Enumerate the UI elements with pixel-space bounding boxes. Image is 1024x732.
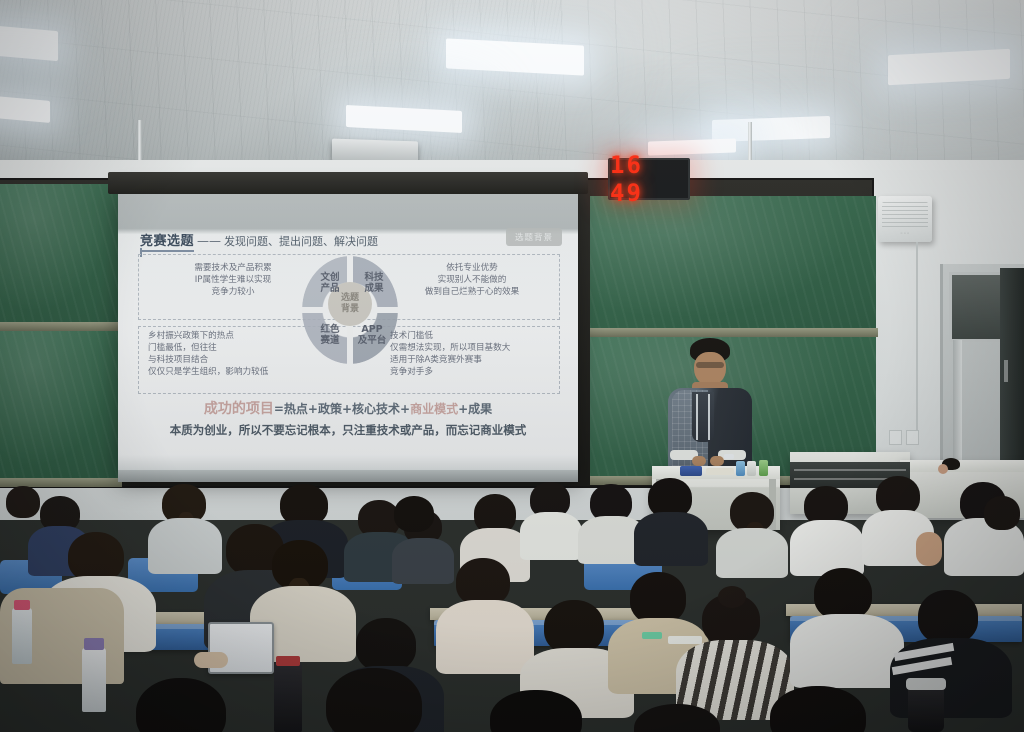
donut-diagram: 选题 背景 文创 产品 科技 成果 红色 赛道 APP 及平台 xyxy=(302,250,398,370)
bottle-cap xyxy=(14,600,30,610)
student xyxy=(0,472,52,532)
speaker-logo: ◦◦◦ xyxy=(900,231,910,237)
q-tr-line2: 成果 xyxy=(352,283,396,294)
block-br-line1: 技术门槛低 xyxy=(390,330,552,342)
bottle-cap xyxy=(84,638,104,650)
summary-mid: =热点+政策+ xyxy=(274,402,352,416)
student xyxy=(790,568,902,680)
student-front-row xyxy=(112,678,262,732)
slide-summary-formula: 成功的项目=热点+政策+核心技术+商业模式+成果 xyxy=(118,398,578,418)
slide-block-top-right: 依托专业优势 实现别人不能做的 做到自己烂熟于心的效果 xyxy=(394,262,550,298)
chalk-rail xyxy=(590,328,878,337)
slide-section-badge: 选题背景 xyxy=(506,228,562,246)
student xyxy=(520,482,580,552)
block-tl-line2: IP属性学生难以实现 xyxy=(158,274,308,286)
student-front-row xyxy=(470,690,610,732)
ceiling-panel-light xyxy=(888,49,1010,85)
summary-tech: 核心技术 xyxy=(352,402,400,416)
student-raised-hand xyxy=(908,532,958,602)
thermos-bottle xyxy=(82,648,106,712)
thermos-bottle xyxy=(908,684,944,732)
block-br-line2: 仅需想法实现，所以项目基数大 xyxy=(390,342,552,354)
student xyxy=(790,486,862,570)
wall-speaker: ◦◦◦ xyxy=(878,196,932,242)
student xyxy=(716,492,786,570)
side-desk-surface xyxy=(900,460,1024,472)
donut-quadrant-top-left: 文创 产品 xyxy=(308,272,352,294)
donut-quadrant-bottom-right: APP 及平台 xyxy=(350,324,394,346)
student-front-row xyxy=(752,686,902,732)
student-front-row xyxy=(306,668,456,732)
block-bl-line4: 仅仅只是学生组织，影响力较低 xyxy=(148,366,304,378)
student-audience xyxy=(0,472,1024,732)
slide-summary-note: 本质为创业，所以不要忘记根本，只注重技术或产品，而忘记商业模式 xyxy=(118,422,578,438)
student xyxy=(436,558,532,668)
chalkboard-panel-left-bottom xyxy=(0,330,120,480)
block-bl-line2: 门槛最低，但往往 xyxy=(148,342,304,354)
q-tl-line2: 产品 xyxy=(308,283,352,294)
summary-plus: + xyxy=(400,402,410,416)
summary-accent: 成功的项目 xyxy=(204,401,274,417)
summary-accent2: 商业模式 xyxy=(410,402,458,416)
block-tl-line3: 竞争力较小 xyxy=(158,286,308,298)
slide-block-top-left: 需要技术及产品积累 IP属性学生难以实现 竞争力较小 xyxy=(158,262,308,298)
student-front-row xyxy=(620,704,750,732)
ceiling-panel-light xyxy=(0,95,50,123)
q-tl-line1: 文创 xyxy=(308,272,352,283)
slide-block-bottom-left: 乡村振兴政策下的热点 门槛最低，但往往 与科技项目结合 仅仅只是学生组织，影响力… xyxy=(148,330,304,378)
q-br-line2: 及平台 xyxy=(350,335,394,346)
chalkboard-panel-left-top xyxy=(0,184,120,324)
q-tr-line1: 科技 xyxy=(352,272,396,283)
wall-cable xyxy=(916,242,918,432)
clock-digits: 16 49 xyxy=(610,151,688,207)
block-tr-line3: 做到自己烂熟于心的效果 xyxy=(394,286,550,298)
water-bottle xyxy=(12,608,32,664)
thermos-bottle xyxy=(274,662,302,732)
door-handle[interactable] xyxy=(1004,360,1008,382)
desk-marker xyxy=(642,632,662,639)
student xyxy=(382,496,444,566)
presenter xyxy=(662,338,758,476)
cabinet-seam xyxy=(794,469,906,471)
chalk-rail xyxy=(0,322,122,331)
projection-screen-case xyxy=(108,172,588,194)
led-wall-clock: 16 49 xyxy=(608,158,690,200)
lecture-hall-photo: 16 49 ◦◦◦ 竞赛选题 —— 发现问题、提出问题、解决问题 选题背景 xyxy=(0,0,1024,732)
desk-paper xyxy=(668,636,702,644)
q-bl-line1: 红色 xyxy=(308,324,352,335)
donut-center-line1: 选题 xyxy=(341,293,359,304)
block-bl-line1: 乡村振兴政策下的热点 xyxy=(148,330,304,342)
projection-screen: 竞赛选题 —— 发现问题、提出问题、解决问题 选题背景 选题 背景 文创 产品 xyxy=(118,188,578,478)
summary-tail: +成果 xyxy=(458,402,492,416)
chalkboard-panel-right-top xyxy=(590,196,876,330)
block-tr-line2: 实现别人不能做的 xyxy=(394,274,550,286)
bottle-cap xyxy=(906,678,946,690)
ceiling-panel-light xyxy=(0,25,58,61)
slide-title-main: 竞赛选题 xyxy=(140,230,194,252)
slide-title: 竞赛选题 —— 发现问题、提出问题、解决问题 xyxy=(140,230,378,252)
block-br-line3: 适用于除A类竞赛外赛事 xyxy=(390,354,552,366)
student xyxy=(634,478,706,558)
bottle-cap xyxy=(276,656,300,666)
speaker-grill xyxy=(882,202,928,228)
slide-block-bottom-right: 技术门槛低 仅需想法实现，所以项目基数大 适用于除A类竞赛外赛事 竞争对手多 xyxy=(390,330,552,378)
block-bl-line3: 与科技项目结合 xyxy=(148,354,304,366)
donut-quadrant-bottom-left: 红色 赛道 xyxy=(308,324,352,346)
q-bl-line2: 赛道 xyxy=(308,335,352,346)
block-tl-line1: 需要技术及产品积累 xyxy=(158,262,308,274)
block-tr-line1: 依托专业优势 xyxy=(394,262,550,274)
wall-outlet xyxy=(889,430,902,445)
wall-outlet xyxy=(906,430,919,445)
donut-quadrant-top-right: 科技 成果 xyxy=(352,272,396,294)
slide-title-dash: —— xyxy=(197,234,221,248)
donut-center-line2: 背景 xyxy=(341,304,359,315)
q-br-line1: APP xyxy=(350,324,394,335)
slide-title-sub: 发现问题、提出问题、解决问题 xyxy=(224,233,378,249)
block-br-line4: 竞争对手多 xyxy=(390,366,552,378)
presentation-slide: 竞赛选题 —— 发现问题、提出问题、解决问题 选题背景 选题 背景 文创 产品 xyxy=(118,222,578,454)
student xyxy=(980,496,1024,556)
